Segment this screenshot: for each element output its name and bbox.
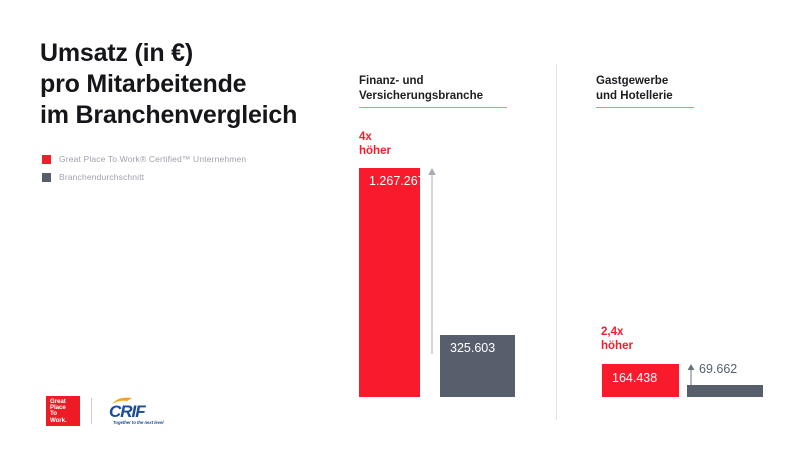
title-line-2: pro Mitarbeitende: [40, 69, 340, 100]
title-line-3: im Branchenvergleich: [40, 100, 340, 131]
bar-value-label-certified-finance: 1.267.267: [369, 174, 425, 188]
bar-value-label-certified-hospitality: 164.438: [612, 371, 657, 385]
group-heading-hospitality-line-2: und Hotellerie: [596, 89, 766, 104]
multiplier-hospitality-line-1: 2,4x: [601, 325, 633, 339]
legend-label-average: Branchendurchschnitt: [59, 172, 144, 182]
group-heading-finance-line-1: Finanz- und: [359, 74, 529, 89]
multiplier-finance-line-1: 4x: [359, 130, 391, 144]
bar-value-label-average-hospitality: 69.662: [699, 362, 737, 376]
bar-average-hospitality: [687, 385, 763, 397]
group-heading-underline-finance: [359, 107, 507, 108]
multiplier-finance-line-2: höher: [359, 144, 391, 158]
group-divider: [556, 64, 557, 420]
chart-group-hospitality: Gastgewerbe und Hotellerie: [596, 74, 766, 108]
logo-separator: [91, 398, 92, 424]
chart-plot-hospitality: 2,4x höher 164.438 69.662: [601, 325, 773, 397]
group-heading-finance-line-2: Versicherungsbranche: [359, 89, 529, 104]
comparison-arrow-hospitality: [685, 364, 697, 386]
chart-plot-finance: 4x höher 1.267.267 325.603: [359, 130, 531, 397]
group-heading-hospitality-line-1: Gastgewerbe: [596, 74, 766, 89]
title-line-1: Umsatz (in €): [40, 38, 340, 69]
crif-logo: CRIF Together to the next level: [103, 396, 175, 426]
legend-swatch-grey: [42, 173, 51, 182]
group-heading-underline-hospitality: [596, 107, 694, 108]
multiplier-hospitality-line-2: höher: [601, 339, 633, 353]
bar-certified-finance: 1.267.267: [359, 168, 420, 397]
legend-item-average: Branchendurchschnitt: [42, 168, 246, 186]
legend-swatch-red: [42, 155, 51, 164]
crif-tagline: Together to the next level: [113, 420, 164, 425]
legend-label-certified: Great Place To Work® Certified™ Unterneh…: [59, 154, 246, 164]
slide-canvas: Umsatz (in €) pro Mitarbeitende im Branc…: [0, 0, 800, 450]
multiplier-annotation-finance: 4x höher: [359, 130, 391, 158]
footer-logos: Great Place To Work. CRIF Together to th…: [46, 396, 175, 426]
great-place-to-work-logo: Great Place To Work.: [46, 396, 80, 426]
comparison-arrow-finance: [425, 168, 439, 354]
gptw-logo-line-4: Work.: [50, 418, 76, 424]
chart-legend: Great Place To Work® Certified™ Unterneh…: [42, 150, 246, 186]
bar-average-finance: 325.603: [440, 335, 515, 397]
legend-item-certified: Great Place To Work® Certified™ Unterneh…: [42, 150, 246, 168]
crif-wordmark: CRIF: [109, 403, 145, 420]
chart-group-finance: Finanz- und Versicherungsbranche: [359, 74, 529, 108]
page-title: Umsatz (in €) pro Mitarbeitende im Branc…: [40, 38, 340, 131]
bar-value-label-average-finance: 325.603: [450, 341, 495, 355]
bar-certified-hospitality: 164.438: [602, 364, 679, 397]
multiplier-annotation-hospitality: 2,4x höher: [601, 325, 633, 353]
